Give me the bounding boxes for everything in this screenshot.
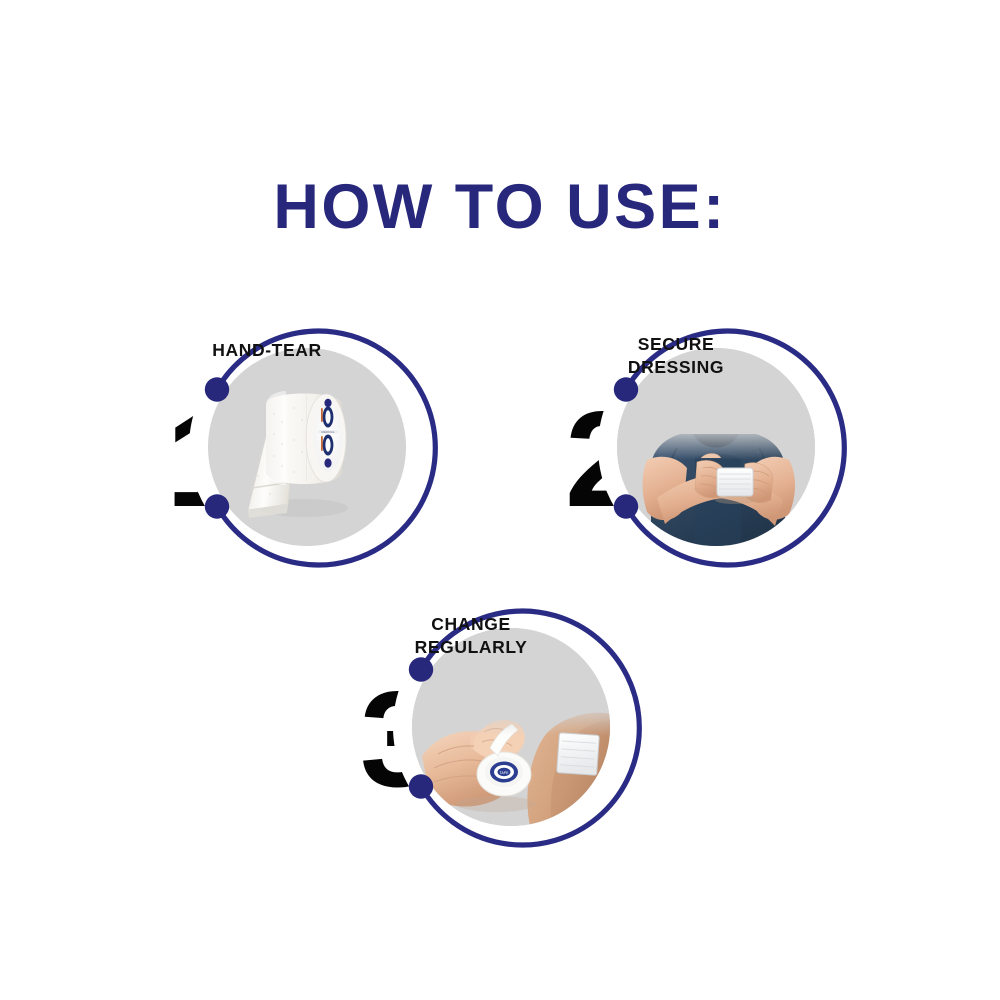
svg-text:TAPE: TAPE xyxy=(499,771,509,775)
changing-dressing-photo: TAPE xyxy=(412,628,610,826)
step-3-image-disc: TAPE xyxy=(412,628,610,826)
tape-roll-icon: MEDICAL xyxy=(208,348,406,546)
securing-dressing-photo xyxy=(617,348,815,546)
how-to-use-infographic: HOW TO USE: 1 xyxy=(0,0,1000,1000)
step-2-image-disc xyxy=(617,348,815,546)
svg-text:MEDICAL: MEDICAL xyxy=(321,430,335,434)
step-1: 1 xyxy=(168,313,438,583)
step-2: 2 xyxy=(577,313,847,583)
page-title: HOW TO USE: xyxy=(0,176,1000,239)
step-1-image-disc: MEDICAL xyxy=(208,348,406,546)
step-3: 3 xyxy=(372,593,642,863)
